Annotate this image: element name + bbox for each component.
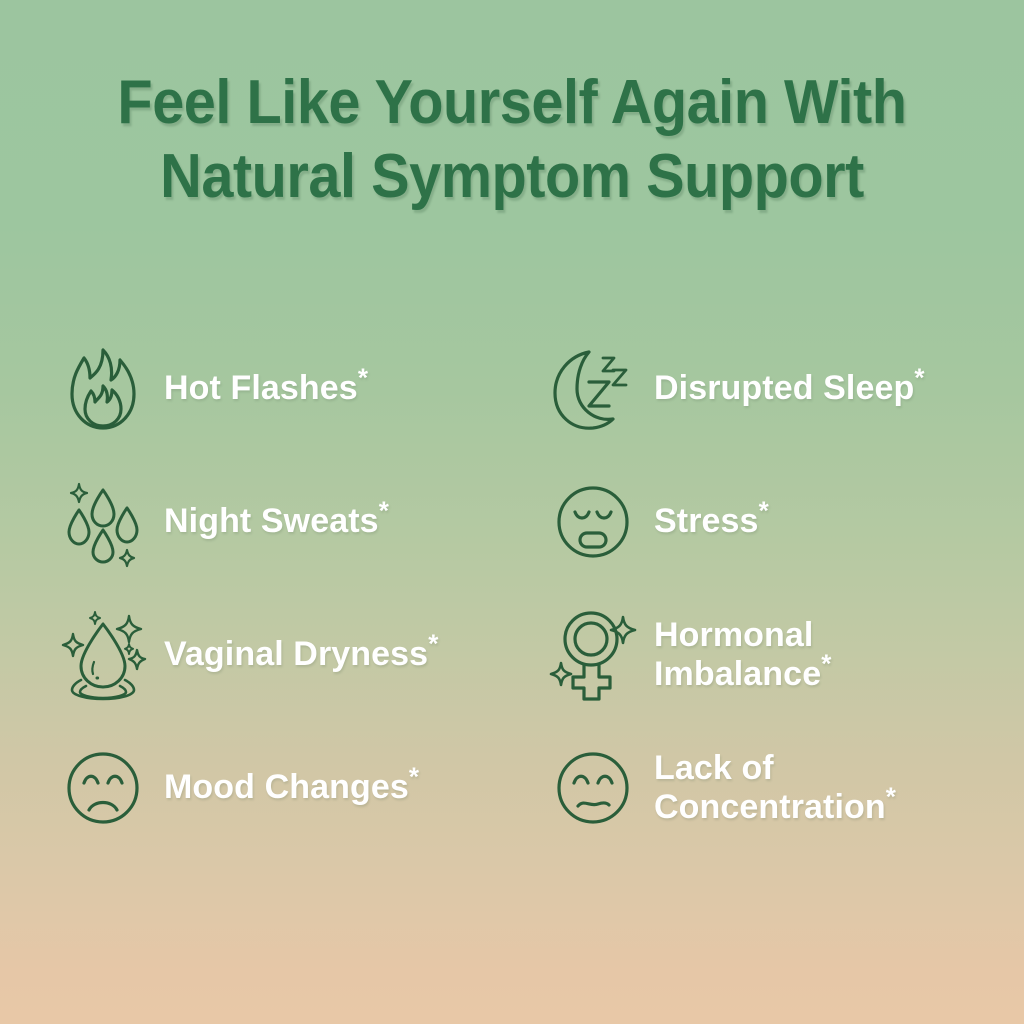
symptom-item-night-sweats: Night Sweats* [60,455,550,588]
symptom-item-hot-flashes: Hot Flashes* [60,322,550,455]
tired-face-icon [550,474,636,570]
symptom-label: Lack ofConcentration* [654,749,896,827]
symptom-label: Stress* [654,502,769,541]
water-drop-ripple-sparkle-icon [60,607,146,703]
symptom-label: Hot Flashes* [164,369,368,408]
symptom-label: Disrupted Sleep* [654,369,925,408]
moon-zzz-icon [550,341,636,437]
symptom-label-line-2: Concentration* [654,788,896,827]
headline-line-1: Feel Like Yourself Again With [36,66,988,140]
symptom-grid: Hot Flashes* Disrupted Sleep* [60,322,980,854]
symptom-label: Mood Changes* [164,768,419,807]
symptom-label: HormonalImbalance* [654,616,831,694]
symptom-item-mood-changes: Mood Changes* [60,721,550,854]
symptom-item-vaginal-dryness: Vaginal Dryness* [60,588,550,721]
headline-line-2: Natural Symptom Support [36,140,988,214]
confused-face-icon [550,740,636,836]
page-title: Feel Like Yourself Again With Natural Sy… [36,66,988,214]
sad-face-icon [60,740,146,836]
symptom-item-lack-of-concentration: Lack ofConcentration* [550,721,980,854]
symptom-item-stress: Stress* [550,455,980,588]
venus-symbol-sparkle-icon [550,607,636,703]
symptom-label: Night Sweats* [164,502,389,541]
symptom-item-hormonal-imbalance: HormonalImbalance* [550,588,980,721]
flame-icon [60,341,146,437]
droplets-sparkle-icon [60,474,146,570]
symptom-item-disrupted-sleep: Disrupted Sleep* [550,322,980,455]
promotional-poster: Feel Like Yourself Again With Natural Sy… [0,0,1024,1024]
symptom-label: Vaginal Dryness* [164,635,438,674]
symptom-label-line-2: Imbalance* [654,655,831,694]
